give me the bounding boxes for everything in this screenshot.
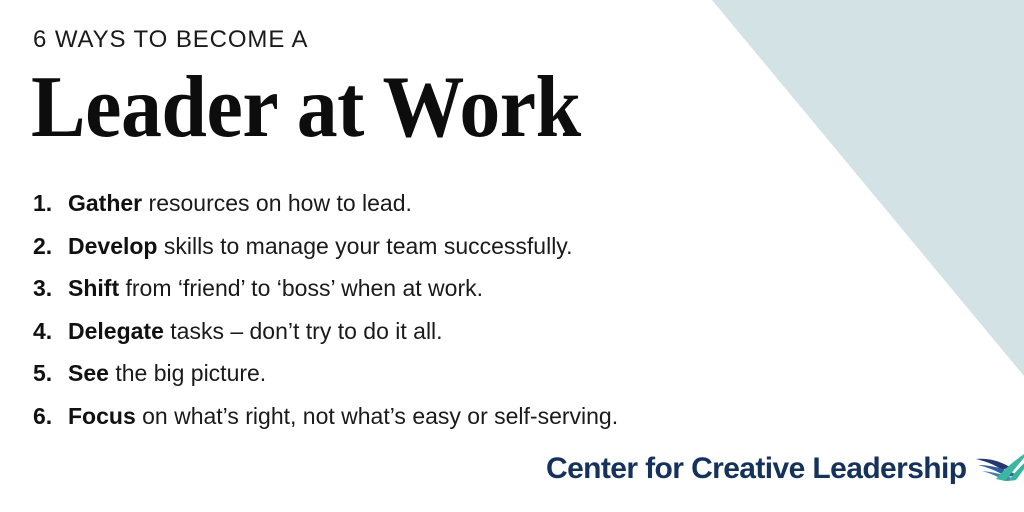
brand-logo: Center for Creative Leadership	[546, 448, 1024, 490]
list-item-text: See the big picture.	[68, 352, 266, 395]
list-item-text: Delegate tasks – don’t try to do it all.	[68, 310, 443, 353]
list-item-number: 3.	[33, 267, 68, 310]
list-item-rest: tasks – don’t try to do it all.	[164, 318, 443, 344]
list-item-number: 2.	[33, 225, 68, 268]
list-item-keyword: Develop	[68, 233, 157, 259]
list-item-rest: skills to manage your team successfully.	[157, 233, 572, 259]
list-item: 5. See the big picture.	[33, 352, 793, 395]
list-item-text: Shift from ‘friend’ to ‘boss’ when at wo…	[68, 267, 483, 310]
list-item: 1. Gather resources on how to lead.	[33, 182, 793, 225]
slide-canvas: 6 WAYS TO BECOME A Leader at Work 1. Gat…	[0, 0, 1024, 512]
list-item-number: 4.	[33, 310, 68, 353]
list-item-keyword: Gather	[68, 190, 142, 216]
tips-list: 1. Gather resources on how to lead. 2. D…	[33, 182, 793, 437]
list-item: 2. Develop skills to manage your team su…	[33, 225, 793, 268]
logo-wordmark: Center for Creative Leadership	[546, 454, 966, 484]
list-item-text: Focus on what’s right, not what’s easy o…	[68, 395, 618, 438]
swoosh-icon	[972, 448, 1024, 484]
list-item-keyword: Delegate	[68, 318, 164, 344]
list-item-rest: resources on how to lead.	[142, 190, 412, 216]
list-item: 3. Shift from ‘friend’ to ‘boss’ when at…	[33, 267, 793, 310]
list-item-text: Develop skills to manage your team succe…	[68, 225, 573, 268]
list-item-rest: the big picture.	[109, 360, 266, 386]
kicker-text: 6 WAYS TO BECOME A	[33, 28, 308, 52]
list-item: 6. Focus on what’s right, not what’s eas…	[33, 395, 793, 438]
list-item-text: Gather resources on how to lead.	[68, 182, 412, 225]
list-item-number: 1.	[33, 182, 68, 225]
list-item-keyword: Shift	[68, 275, 119, 301]
list-item: 4. Delegate tasks – don’t try to do it a…	[33, 310, 793, 353]
list-item-keyword: See	[68, 360, 109, 386]
list-item-keyword: Focus	[68, 403, 136, 429]
list-item-rest: from ‘friend’ to ‘boss’ when at work.	[119, 275, 483, 301]
list-item-rest: on what’s right, not what’s easy or self…	[136, 403, 618, 429]
list-item-number: 5.	[33, 352, 68, 395]
page-title: Leader at Work	[31, 64, 581, 152]
list-item-number: 6.	[33, 395, 68, 438]
